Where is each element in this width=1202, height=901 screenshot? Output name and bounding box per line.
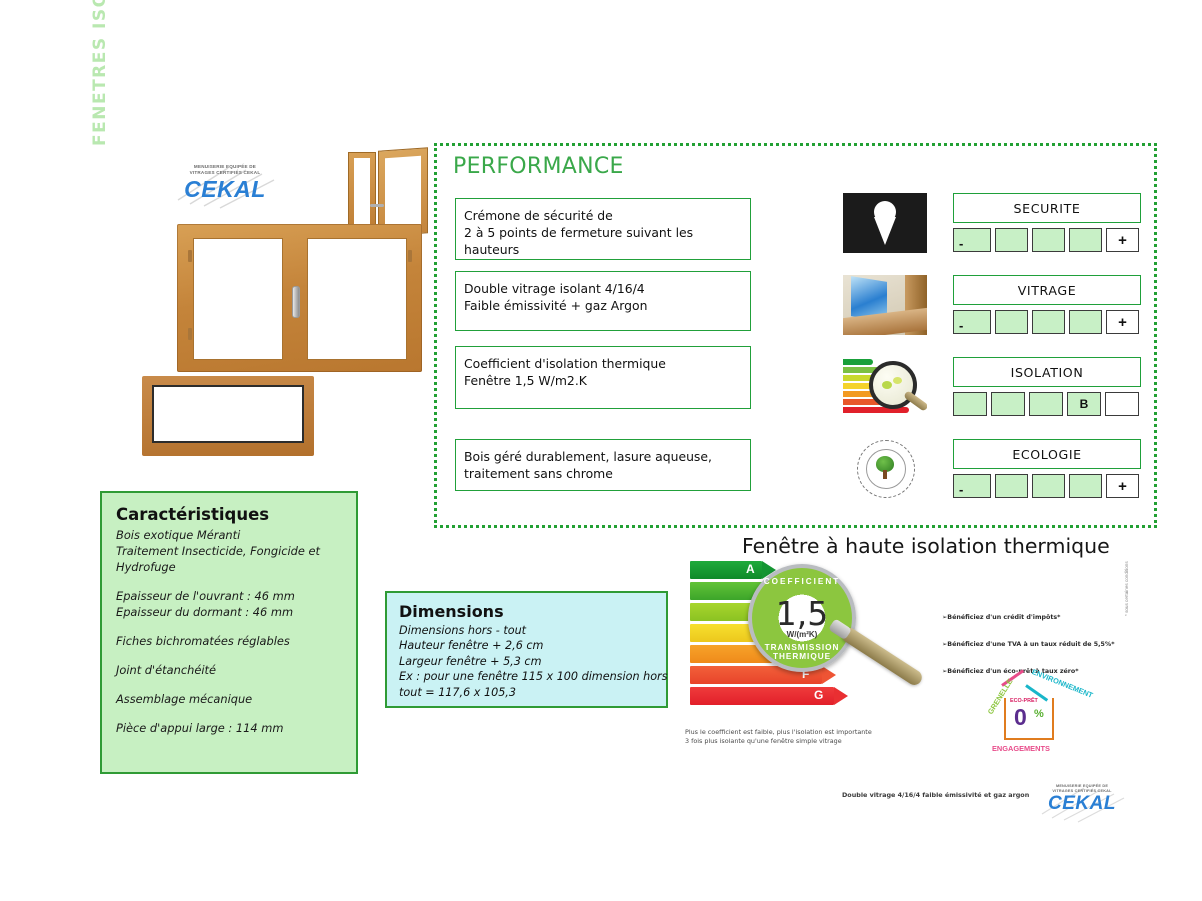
rating-cell[interactable]: [1032, 228, 1065, 252]
rating-cell[interactable]: -: [953, 228, 991, 252]
dimensions-line: Hauteur fenêtre + 2,6 cm: [399, 638, 666, 653]
performance-box-4: Bois géré durablement, lasure aqueuse, t…: [455, 439, 751, 491]
dimensions-title: Dimensions: [399, 602, 666, 621]
cekal-wordmark: CEKAL: [1036, 793, 1128, 815]
benefit-item: ➢Bénéficiez d'une TVA à un taux réduit d…: [942, 641, 1122, 648]
grade-label: A: [746, 562, 755, 576]
rating-label-vitrage: VITRAGE: [953, 275, 1141, 305]
carac-line: Epaisseur de l'ouvrant : 46 mm: [116, 588, 356, 604]
rating-cells-ecologie: - +: [953, 474, 1139, 498]
perf-1-line-1: Crémone de sécurité de: [464, 207, 750, 224]
rating-cell[interactable]: [953, 392, 987, 416]
dimensions-panel: Dimensions Dimensions hors - tout Hauteu…: [385, 591, 668, 708]
dimensions-line: Ex : pour une fenêtre 115 x 100 dimensio…: [399, 669, 666, 684]
magnifier-handle: [839, 625, 924, 688]
perf-3-line-2: Fenêtre 1,5 W/m2.K: [464, 372, 750, 389]
grenelle-percent: %: [1034, 708, 1044, 720]
rating-cells-vitrage: - +: [953, 310, 1139, 334]
rating-cell[interactable]: [995, 228, 1028, 252]
cekal-wordmark: CEKAL: [170, 176, 280, 203]
rating-label-ecologie: ECOLOGIE: [953, 439, 1141, 469]
keyhole-icon: [843, 193, 927, 253]
carac-line: Hydrofuge: [116, 559, 356, 575]
rating-label-securite: SECURITE: [953, 193, 1141, 223]
dimensions-line: tout = 117,6 x 105,3: [399, 685, 666, 700]
energy-note-line-2: 3 fois plus isolante qu'une fenêtre simp…: [685, 737, 872, 746]
carac-line: Joint d'étanchéité: [116, 662, 356, 678]
caracteristiques-panel: Caractéristiques Bois exotique Méranti T…: [100, 491, 358, 774]
rating-cell[interactable]: [1069, 474, 1102, 498]
window-leaf-left: [348, 152, 376, 232]
rating-cell[interactable]: -: [953, 310, 991, 334]
performance-panel: PERFORMANCE Crémone de sécurité de 2 à 5…: [434, 143, 1157, 528]
energy-note-line-1: Plus le coefficient est faible, plus l'i…: [685, 728, 872, 737]
cekal-caption-2: VITRAGES CERTIFIÉS CEKAL: [170, 170, 280, 176]
performance-box-1: Crémone de sécurité de 2 à 5 points de f…: [455, 198, 751, 260]
energy-note: Plus le coefficient est faible, plus l'i…: [685, 728, 872, 746]
eco-stamp-icon: [843, 439, 927, 499]
rating-cell[interactable]: [995, 310, 1028, 334]
grenelle-word-bottom: ENGAGEMENTS: [992, 744, 1050, 753]
window-handle-small: [370, 204, 384, 207]
promo-title: Fenêtre à haute isolation thermique: [742, 534, 1110, 558]
caracteristiques-title: Caractéristiques: [116, 505, 356, 524]
rating-cell[interactable]: +: [1106, 228, 1139, 252]
energy-label-graphic: A F: [690, 561, 915, 726]
coefficient-magnifier: COEFFICIENT 1,5 W/(m²K) TRANSMISSION THE…: [748, 564, 856, 672]
rating-cell[interactable]: +: [1106, 474, 1139, 498]
rating-label-isolation: ISOLATION: [953, 357, 1141, 387]
performance-box-2: Double vitrage isolant 4/16/4 Faible émi…: [455, 271, 751, 331]
vertical-side-title: FENETRES ISOLANTE MT 46 MM: [90, 0, 120, 146]
rating-cell[interactable]: [995, 474, 1028, 498]
carac-line: Traitement Insecticide, Fongicide et: [116, 543, 356, 559]
window-double-image: [177, 224, 422, 372]
perf-3-line-1: Coefficient d'isolation thermique: [464, 355, 750, 372]
window-transom-image: [142, 376, 314, 456]
rating-cell-grade-b[interactable]: B: [1067, 392, 1101, 416]
rating-cell[interactable]: [1069, 228, 1102, 252]
cekal-logo-bottom: MENUISERIE EQUIPÉE DE VITRAGES CERTIFIÉS…: [1036, 784, 1128, 832]
performance-box-3: Coefficient d'isolation thermique Fenêtr…: [455, 346, 751, 409]
rating-cell[interactable]: +: [1106, 310, 1139, 334]
glazing-photo-icon: [843, 275, 927, 335]
carac-line: Assemblage mécanique: [116, 691, 356, 707]
rating-cell[interactable]: [991, 392, 1025, 416]
cekal-logo-top: MENUISERIE EQUIPÉE DE VITRAGES CERTIFIÉS…: [170, 164, 280, 222]
window-handle: [292, 286, 300, 318]
perf-4-line-2: traitement sans chrome: [464, 465, 750, 482]
grenelle-zero: 0: [1014, 706, 1027, 729]
grade-label: G: [814, 688, 823, 702]
coefficient-arc-top: COEFFICIENT: [752, 577, 852, 586]
perf-1-line-2: 2 à 5 points de fermeture suivant les: [464, 224, 750, 241]
benefit-item: ➢Bénéficiez d'un crédit d'impôts*: [942, 614, 1122, 621]
carac-line: Pièce d'appui large : 114 mm: [116, 720, 356, 736]
perf-2-line-1: Double vitrage isolant 4/16/4: [464, 280, 750, 297]
rating-row-isolation: ISOLATION B: [843, 357, 1143, 429]
rating-cell[interactable]: -: [953, 474, 991, 498]
energy-magnifier-icon: [843, 357, 927, 417]
carac-line: Epaisseur du dormant : 46 mm: [116, 604, 356, 620]
rating-cells-isolation: B: [953, 392, 1139, 416]
perf-4-line-1: Bois géré durablement, lasure aqueuse,: [464, 448, 750, 465]
window-hinge-top: [188, 250, 192, 262]
window-pane-left: [193, 238, 283, 360]
carac-line: Bois exotique Méranti: [116, 527, 356, 543]
rating-row-vitrage: VITRAGE - +: [843, 275, 1143, 347]
house-outline-icon: [1004, 698, 1054, 740]
rating-row-ecologie: ECOLOGIE - +: [843, 439, 1143, 511]
coefficient-arc-bottom: TRANSMISSION THERMIQUE: [752, 643, 852, 661]
glazing-note: Double vitrage 4/16/4 faible émissivité …: [842, 791, 1029, 799]
rating-cell[interactable]: [1029, 392, 1063, 416]
rating-row-securite: SECURITE - +: [843, 193, 1143, 265]
perf-2-line-2: Faible émissivité + gaz Argon: [464, 297, 750, 314]
window-hinge-bottom: [188, 328, 192, 340]
perf-1-line-3: hauteurs: [464, 241, 750, 258]
carac-line: Fiches bichromatées réglables: [116, 633, 356, 649]
dimensions-line: Dimensions hors - tout: [399, 623, 666, 638]
rating-cell[interactable]: [1032, 474, 1065, 498]
conditions-note: * sous certaines conditions: [1124, 536, 1129, 616]
window-hinge-right-top: [408, 250, 412, 262]
slide-page: FENETRES ISOLANTE MT 46 MM MENUISERIE EQ…: [0, 0, 1202, 901]
window-pane-right: [307, 238, 407, 360]
dimensions-line: Largeur fenêtre + 5,3 cm: [399, 654, 666, 669]
rating-cell[interactable]: [1105, 392, 1139, 416]
performance-title: PERFORMANCE: [453, 154, 624, 179]
rating-cell[interactable]: [1069, 310, 1102, 334]
rating-cells-securite: - +: [953, 228, 1139, 252]
grenelle-environnement-logo: ECO-PRÊT 0 % GRENELLE ENVIRONNEMENT ENGA…: [974, 676, 1080, 760]
rating-cell[interactable]: [1032, 310, 1065, 334]
transom-pane: [152, 385, 304, 443]
slide-canvas: FENETRES ISOLANTE MT 46 MM MENUISERIE EQ…: [30, 28, 1172, 873]
